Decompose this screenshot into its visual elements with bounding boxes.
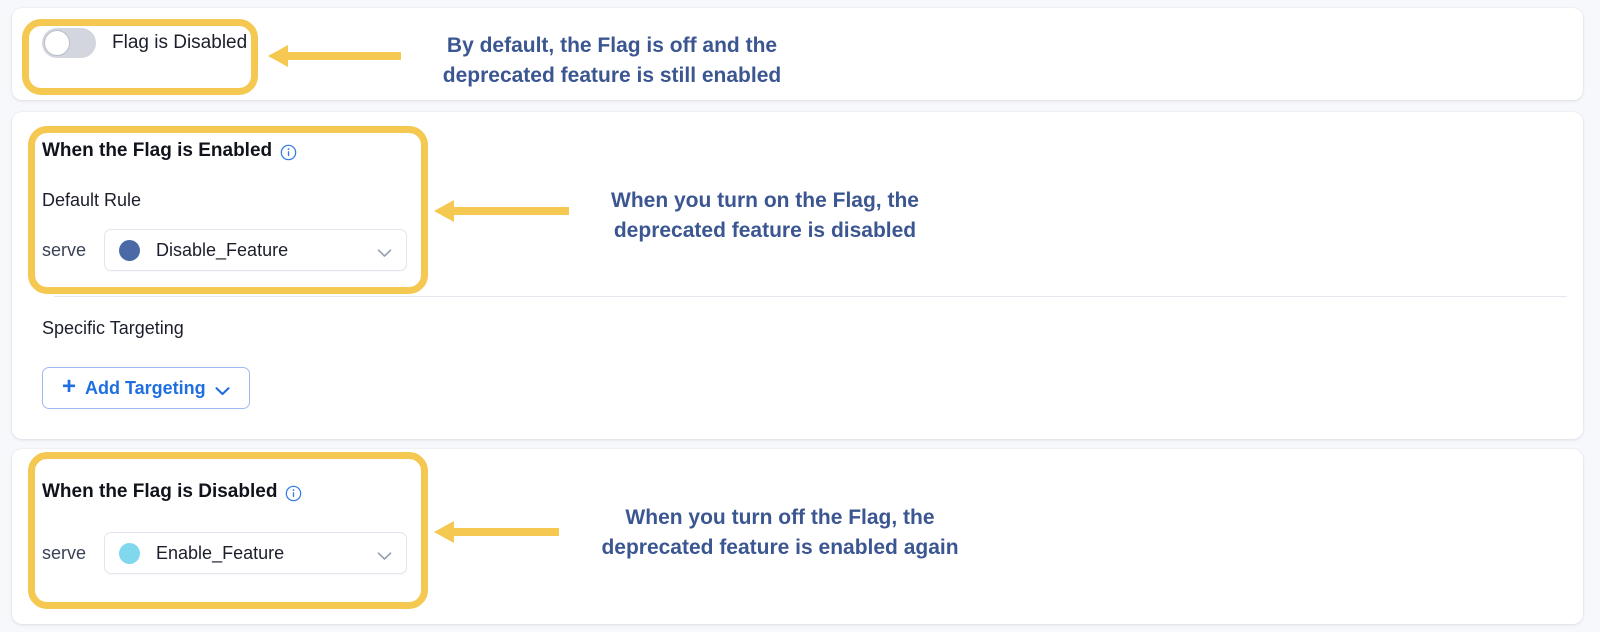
flag-toggle-row: Flag is Disabled bbox=[42, 28, 247, 58]
default-rule-label: Default Rule bbox=[42, 190, 141, 211]
serve-label-enabled: serve bbox=[42, 240, 86, 261]
chevron-down-icon bbox=[377, 245, 392, 255]
section-divider bbox=[54, 296, 1567, 297]
info-circle-icon[interactable] bbox=[280, 144, 297, 161]
flag-toggle-label: Flag is Disabled bbox=[112, 32, 247, 54]
when-flag-enabled-title: When the Flag is Enabled bbox=[42, 140, 297, 162]
variation-color-swatch bbox=[119, 543, 140, 564]
default-rule-serve-row: serve Disable_Feature bbox=[42, 229, 407, 271]
default-rule-variation-value: Disable_Feature bbox=[156, 240, 361, 261]
when-flag-enabled-title-text: When the Flag is Enabled bbox=[42, 140, 272, 162]
when-flag-disabled-card: When the Flag is Disabled serve Enable_F… bbox=[12, 449, 1583, 624]
toggle-knob bbox=[44, 30, 70, 56]
plus-icon: + bbox=[62, 375, 76, 399]
variation-color-swatch bbox=[119, 240, 140, 261]
disabled-serve-row: serve Enable_Feature bbox=[42, 532, 407, 574]
chevron-down-icon bbox=[377, 548, 392, 558]
when-flag-disabled-title: When the Flag is Disabled bbox=[42, 481, 302, 503]
when-flag-disabled-title-text: When the Flag is Disabled bbox=[42, 481, 277, 503]
flag-toggle-switch[interactable] bbox=[42, 28, 96, 58]
chevron-down-icon bbox=[215, 383, 230, 393]
info-circle-icon[interactable] bbox=[285, 485, 302, 502]
when-flag-enabled-card: When the Flag is Enabled Default Rule se… bbox=[12, 112, 1583, 439]
feature-flag-settings-page: Flag is Disabled When the Flag is Enable… bbox=[0, 0, 1600, 632]
serve-label-disabled: serve bbox=[42, 543, 86, 564]
specific-targeting-label: Specific Targeting bbox=[42, 318, 184, 339]
off-variation-value: Enable_Feature bbox=[156, 543, 361, 564]
add-targeting-button[interactable]: + Add Targeting bbox=[42, 367, 250, 409]
flag-toggle-card: Flag is Disabled bbox=[12, 8, 1583, 100]
off-variation-select[interactable]: Enable_Feature bbox=[104, 532, 407, 574]
default-rule-variation-select[interactable]: Disable_Feature bbox=[104, 229, 407, 271]
add-targeting-label: Add Targeting bbox=[85, 378, 206, 399]
